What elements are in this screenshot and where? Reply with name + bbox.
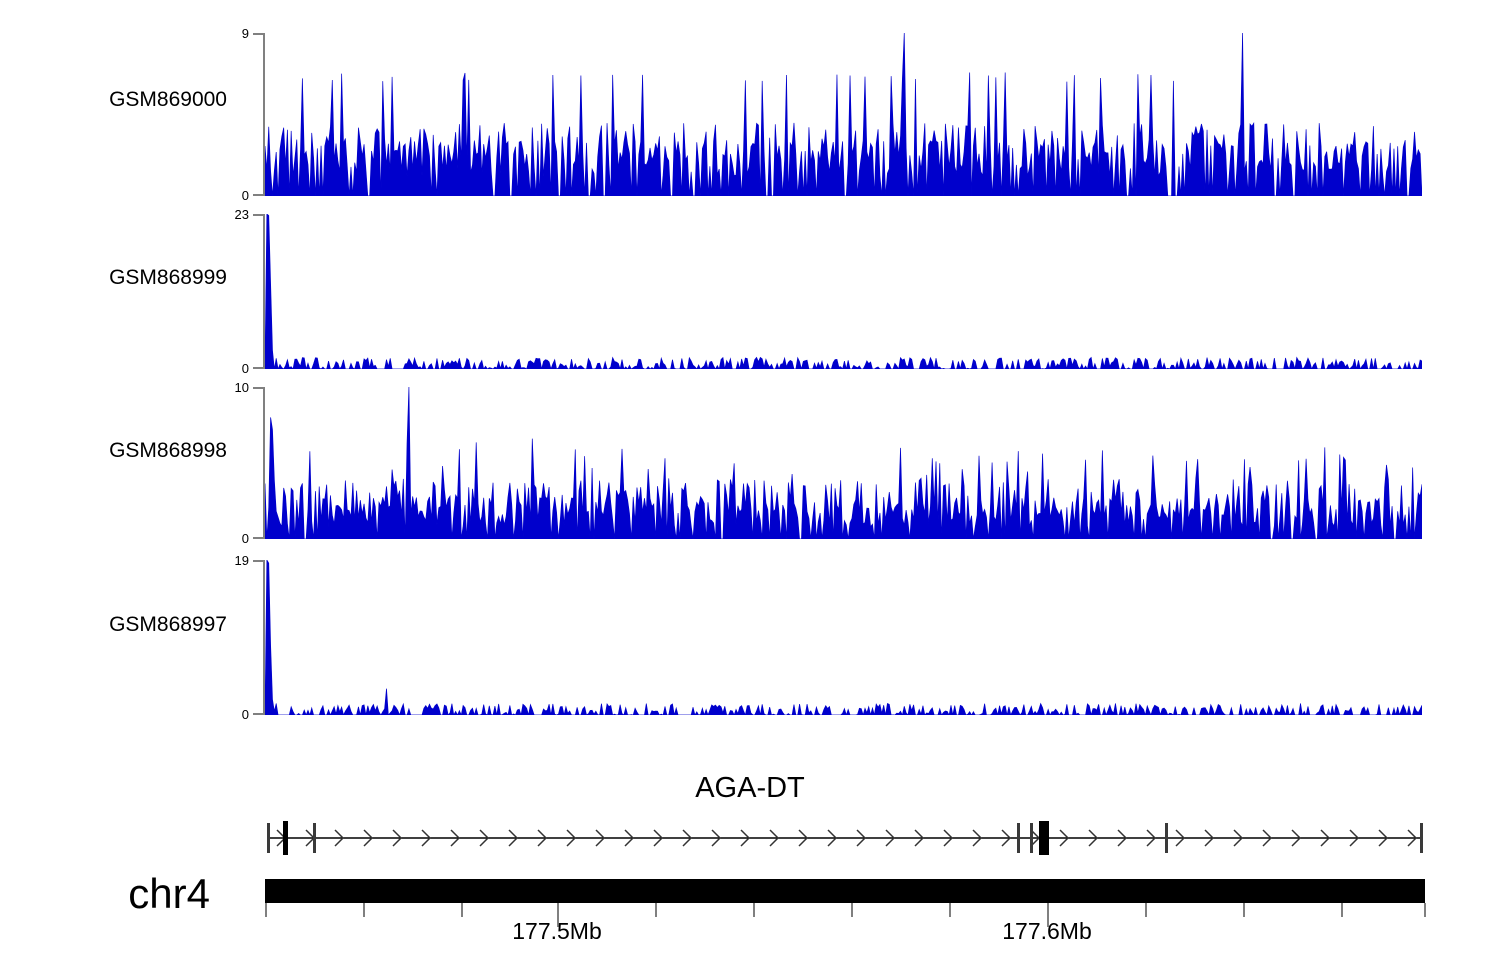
- chromosome-label: chr4: [0, 870, 210, 918]
- ruler-tick: [363, 903, 365, 917]
- gene-exon[interactable]: [283, 821, 288, 855]
- ruler-tick: [461, 903, 463, 917]
- gene-exon[interactable]: [1039, 821, 1049, 855]
- gene-annotation-track[interactable]: AGA-DT: [0, 0, 1500, 980]
- ruler-tick: [655, 903, 657, 917]
- ruler-label: 177.6Mb: [1002, 918, 1092, 945]
- gene-exon[interactable]: [1017, 823, 1020, 853]
- gene-exon[interactable]: [1030, 823, 1033, 853]
- gene-exon[interactable]: [1420, 823, 1423, 853]
- ruler-tick: [949, 903, 951, 917]
- ruler-tick: [1145, 903, 1147, 917]
- ruler-tick: [1341, 903, 1343, 917]
- ruler-tick: [1424, 903, 1426, 917]
- gene-exon[interactable]: [267, 823, 270, 853]
- ruler-tick: [851, 903, 853, 917]
- gene-exon[interactable]: [313, 823, 316, 853]
- ruler-tick: [265, 903, 267, 917]
- chromosome-ideogram-bar[interactable]: [265, 879, 1425, 903]
- ruler-tick: [753, 903, 755, 917]
- gene-name-label: AGA-DT: [0, 772, 1500, 805]
- genome-browser: GSM86900090GSM868999230GSM868998100GSM86…: [0, 0, 1500, 980]
- ruler-label: 177.5Mb: [512, 918, 602, 945]
- gene-exon[interactable]: [1165, 823, 1168, 853]
- ruler-tick: [1243, 903, 1245, 917]
- gene-model[interactable]: [0, 816, 1500, 862]
